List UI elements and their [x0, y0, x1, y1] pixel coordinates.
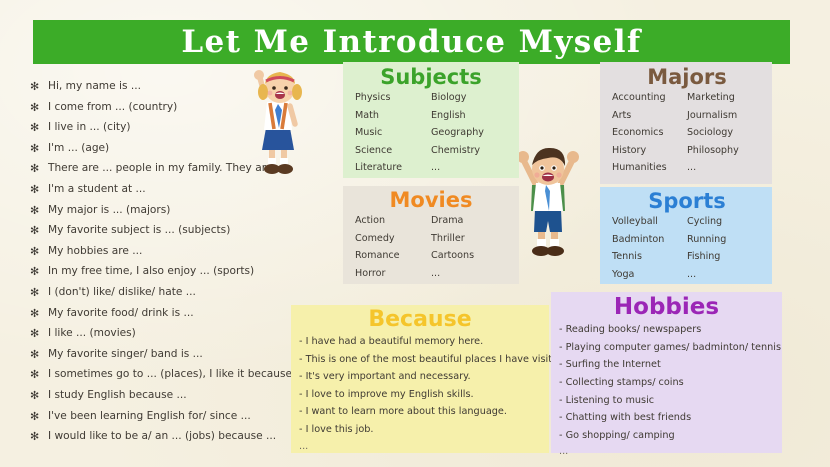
intro-list-item-text: In my free time, I also enjoy ... (sport… [48, 263, 254, 280]
movies-item: Romance [355, 247, 431, 265]
bullet-marker-icon: ✻ [30, 243, 48, 260]
subjects-item: Science [355, 142, 431, 160]
intro-list-item: ✻My major is ... (majors) [30, 202, 330, 219]
intro-list-item-text: My favorite subject is ... (subjects) [48, 222, 230, 239]
intro-list-item: ✻I (don't) like/ dislike/ hate ... [30, 284, 330, 301]
hobbies-line: - Go shopping/ camping [559, 427, 774, 445]
movies-title: Movies [355, 189, 507, 211]
page-title: Let Me Introduce Myself [181, 24, 641, 60]
hobbies-line: - Chatting with best friends [559, 409, 774, 427]
sports-item: Cycling [687, 213, 762, 231]
sports-item: Badminton [612, 231, 687, 249]
sports-item: Running [687, 231, 762, 249]
bullet-marker-icon: ✻ [30, 78, 48, 95]
sports-box: Sports VolleyballBadmintonTennisYoga Cyc… [600, 187, 772, 284]
intro-list-item: ✻I study English because ... [30, 387, 330, 404]
hobbies-line: - Collecting stamps/ coins [559, 374, 774, 392]
subjects-item: English [431, 107, 507, 125]
sports-title: Sports [612, 190, 762, 212]
bullet-marker-icon: ✻ [30, 346, 48, 363]
subjects-item: Physics [355, 89, 431, 107]
intro-list-item: ✻I would like to be a/ an ... (jobs) bec… [30, 428, 330, 445]
sports-item: ... [687, 266, 762, 284]
bullet-marker-icon: ✻ [30, 366, 48, 383]
intro-list-item-text: I sometimes go to ... (places), I like i… [48, 366, 305, 383]
intro-list-item-text: I live in ... (city) [48, 119, 130, 136]
intro-list-item-text: I study English because ... [48, 387, 187, 404]
majors-item: History [612, 142, 687, 160]
majors-column-1: AccountingArtsEconomicsHistoryHumanities [612, 89, 687, 177]
hobbies-title: Hobbies [559, 295, 774, 319]
hobbies-line: - Listening to music [559, 392, 774, 410]
movies-column-2: DramaThrillerCartoons... [431, 212, 507, 282]
bullet-marker-icon: ✻ [30, 202, 48, 219]
movies-item: ... [431, 265, 507, 283]
intro-list-item-text: I (don't) like/ dislike/ hate ... [48, 284, 196, 301]
majors-item: Sociology [687, 124, 762, 142]
sports-item: Fishing [687, 248, 762, 266]
subjects-item: Literature [355, 159, 431, 177]
intro-list-item: ✻My favorite food/ drink is ... [30, 305, 330, 322]
majors-item: Journalism [687, 107, 762, 125]
because-box: Because - I have had a beautiful memory … [291, 305, 549, 453]
because-trailing-ellipsis: ... [299, 439, 541, 454]
intro-list-item: ✻My favorite subject is ... (subjects) [30, 222, 330, 239]
movies-item: Drama [431, 212, 507, 230]
movies-item: Horror [355, 265, 431, 283]
sports-column-2: CyclingRunningFishing... [687, 213, 762, 283]
bullet-marker-icon: ✻ [30, 284, 48, 301]
hobbies-trailing-ellipsis: ... [559, 444, 774, 459]
intro-list-item-text: I like ... (movies) [48, 325, 136, 342]
because-title: Because [299, 308, 541, 331]
schoolboy-illustration [512, 133, 584, 263]
intro-list-item-text: I would like to be a/ an ... (jobs) beca… [48, 428, 276, 445]
majors-item: Philosophy [687, 142, 762, 160]
schoolgirl-illustration [243, 62, 311, 180]
intro-list-item-text: My favorite food/ drink is ... [48, 305, 194, 322]
intro-list-item-text: My hobbies are ... [48, 243, 142, 260]
bullet-marker-icon: ✻ [30, 140, 48, 157]
hobbies-line-list: - Reading books/ newspapers- Playing com… [559, 321, 774, 444]
intro-list-item: ✻I like ... (movies) [30, 325, 330, 342]
movies-box: Movies ActionComedyRomanceHorror DramaTh… [343, 186, 519, 284]
hobbies-line: - Reading books/ newspapers [559, 321, 774, 339]
intro-list-item-text: I come from ... (country) [48, 99, 177, 116]
majors-item: Arts [612, 107, 687, 125]
majors-box: Majors AccountingArtsEconomicsHistoryHum… [600, 62, 772, 184]
because-line: - I have had a beautiful memory here. [299, 333, 541, 351]
majors-title: Majors [612, 66, 762, 88]
sports-column-1: VolleyballBadmintonTennisYoga [612, 213, 687, 283]
bullet-marker-icon: ✻ [30, 119, 48, 136]
subjects-item: Math [355, 107, 431, 125]
bullet-marker-icon: ✻ [30, 387, 48, 404]
intro-list-item-text: My major is ... (majors) [48, 202, 170, 219]
poster-title-banner: Let Me Introduce Myself [33, 20, 790, 64]
sports-item: Tennis [612, 248, 687, 266]
intro-list-item-text: Hi, my name is ... [48, 78, 141, 95]
hobbies-line: - Surfing the Internet [559, 356, 774, 374]
intro-list-item-text: My favorite singer/ band is ... [48, 346, 203, 363]
movies-item: Cartoons [431, 247, 507, 265]
majors-item: ... [687, 159, 762, 177]
bullet-marker-icon: ✻ [30, 408, 48, 425]
because-line: - I want to learn more about this langua… [299, 403, 541, 421]
hobbies-line: - Playing computer games/ badminton/ ten… [559, 339, 774, 357]
intro-list-item-text: I'm a student at ... [48, 181, 146, 198]
subjects-column-2: BiologyEnglishGeographyChemistry... [431, 89, 507, 177]
bullet-marker-icon: ✻ [30, 99, 48, 116]
majors-column-2: MarketingJournalismSociologyPhilosophy..… [687, 89, 762, 177]
subjects-item: Chemistry [431, 142, 507, 160]
subjects-item: Music [355, 124, 431, 142]
intro-list-item: ✻I'm a student at ... [30, 181, 330, 198]
majors-item: Accounting [612, 89, 687, 107]
subjects-column-1: PhysicsMathMusicScienceLiterature [355, 89, 431, 177]
because-line: - This is one of the most beautiful plac… [299, 351, 541, 369]
intro-list-item: ✻My favorite singer/ band is ... [30, 346, 330, 363]
intro-list-item-text: I'm ... (age) [48, 140, 109, 157]
subjects-item: Geography [431, 124, 507, 142]
intro-list-item: ✻My hobbies are ... [30, 243, 330, 260]
subjects-title: Subjects [355, 66, 507, 88]
sports-item: Volleyball [612, 213, 687, 231]
intro-list-item: ✻I've been learning English for/ since .… [30, 408, 330, 425]
movies-column-1: ActionComedyRomanceHorror [355, 212, 431, 282]
bullet-marker-icon: ✻ [30, 305, 48, 322]
because-line: - It's very important and necessary. [299, 368, 541, 386]
bullet-marker-icon: ✻ [30, 181, 48, 198]
movies-item: Action [355, 212, 431, 230]
bullet-marker-icon: ✻ [30, 222, 48, 239]
intro-list-item-text: I've been learning English for/ since ..… [48, 408, 251, 425]
intro-list-item: ✻I sometimes go to ... (places), I like … [30, 366, 330, 383]
sports-item: Yoga [612, 266, 687, 284]
bullet-marker-icon: ✻ [30, 160, 48, 177]
intro-list-item: ✻In my free time, I also enjoy ... (spor… [30, 263, 330, 280]
bullet-marker-icon: ✻ [30, 428, 48, 445]
subjects-item: Biology [431, 89, 507, 107]
movies-item: Thriller [431, 230, 507, 248]
because-line: - I love this job. [299, 421, 541, 439]
because-line-list: - I have had a beautiful memory here.- T… [299, 333, 541, 439]
poster-canvas: Let Me Introduce Myself ✻Hi, my name is … [0, 0, 830, 467]
majors-item: Humanities [612, 159, 687, 177]
movies-item: Comedy [355, 230, 431, 248]
hobbies-box: Hobbies - Reading books/ newspapers- Pla… [551, 292, 782, 453]
majors-item: Marketing [687, 89, 762, 107]
subjects-box: Subjects PhysicsMathMusicScienceLiteratu… [343, 62, 519, 178]
because-line: - I love to improve my English skills. [299, 386, 541, 404]
majors-item: Economics [612, 124, 687, 142]
subjects-item: ... [431, 159, 507, 177]
bullet-marker-icon: ✻ [30, 263, 48, 280]
bullet-marker-icon: ✻ [30, 325, 48, 342]
